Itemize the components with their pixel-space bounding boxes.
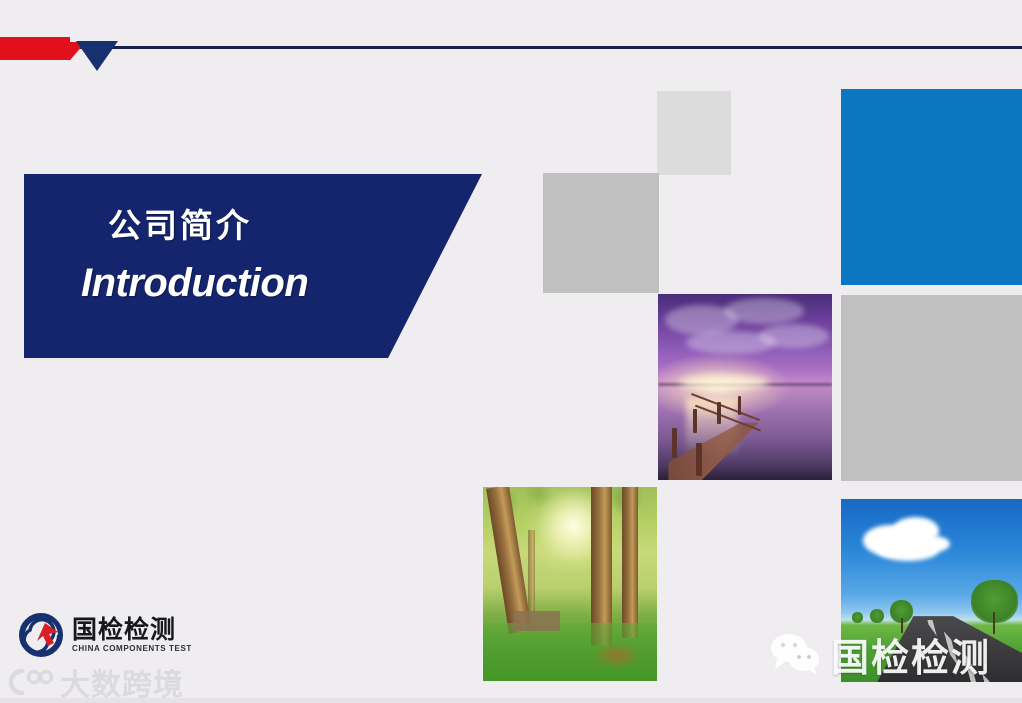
photo-country-road xyxy=(841,499,1022,682)
photo-sunlit-forest xyxy=(483,487,657,681)
cloud-shape xyxy=(917,536,950,552)
roadside-tree xyxy=(870,609,884,624)
mid-gray-square xyxy=(543,173,659,293)
brand-name-english: CHINA COMPONENTS TEST xyxy=(72,645,192,653)
roadside-tree-trunk xyxy=(901,618,903,633)
pier-post xyxy=(696,443,702,476)
blue-square xyxy=(841,89,1022,285)
light-gray-square xyxy=(657,91,731,175)
site-watermark: 大数跨境 xyxy=(8,660,184,703)
section-title-block: 公司简介 Introduction xyxy=(24,174,482,358)
brand-text: 国检检测 CHINA COMPONENTS TEST xyxy=(72,617,192,653)
tree-trunk xyxy=(622,487,638,638)
header-notch-mask xyxy=(70,30,125,42)
gray-square-right xyxy=(841,295,1022,481)
forest-photo-art xyxy=(483,487,657,681)
section-title-english: Introduction xyxy=(81,261,308,306)
roadside-tree-trunk xyxy=(993,612,995,634)
pier-post xyxy=(693,409,697,433)
cloud-shape xyxy=(759,324,829,348)
section-title-chinese: 公司简介 xyxy=(108,199,252,247)
roadside-tree xyxy=(852,612,863,623)
sun-glow xyxy=(679,376,769,389)
dashu-circles-icon xyxy=(8,667,54,697)
pier-post xyxy=(717,402,721,424)
slide-canvas: 公司简介 Introduction xyxy=(0,0,1022,703)
road-photo-art xyxy=(841,499,1022,682)
brand-mark-icon xyxy=(18,612,64,658)
pier-post xyxy=(738,396,741,415)
header-rule xyxy=(0,46,1022,49)
photo-lake-pier xyxy=(658,294,832,480)
wechat-icon xyxy=(767,631,823,677)
lake-photo-art xyxy=(658,294,832,480)
brand-name-chinese: 国检检测 xyxy=(72,617,192,642)
pier-post xyxy=(672,428,677,458)
brand-logo: 国检检测 CHINA COMPONENTS TEST xyxy=(18,612,192,658)
cloud-shape xyxy=(724,298,804,324)
bottom-strip xyxy=(0,698,1022,703)
fallen-leaves xyxy=(591,642,643,669)
navy-triangle-marker xyxy=(76,41,118,71)
site-watermark-label: 大数跨境 xyxy=(60,660,184,703)
park-bench xyxy=(514,611,559,630)
